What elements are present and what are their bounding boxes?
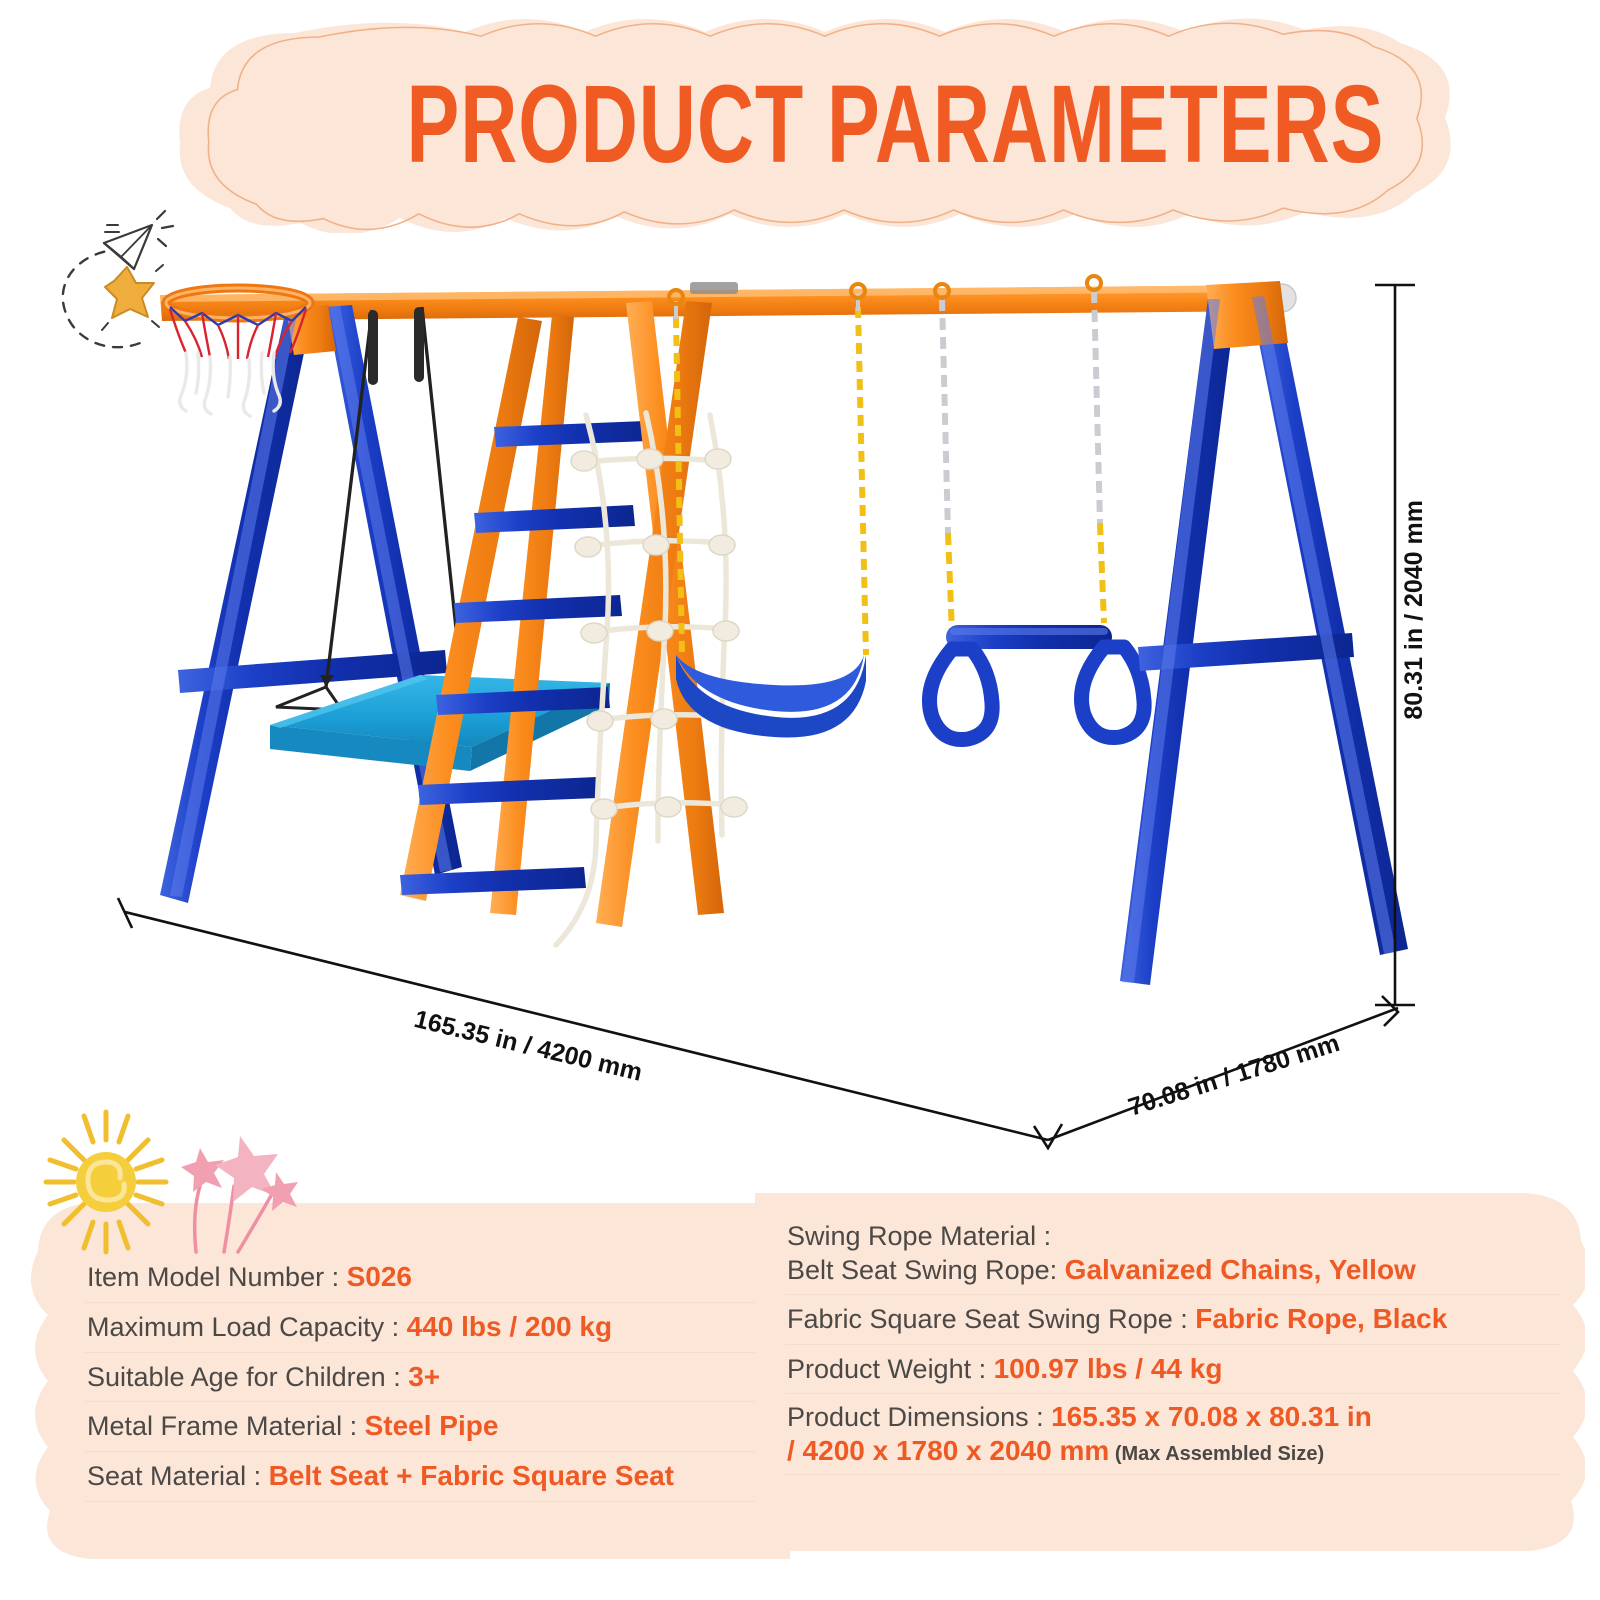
sun-flowers-decoration	[28, 1098, 328, 1268]
spec-value: Steel Pipe	[365, 1410, 499, 1441]
spec-panel-right: Swing Rope Material : Belt Seat Swing Ro…	[755, 1185, 1585, 1575]
spec-label: Product Dimensions :	[787, 1402, 1051, 1432]
spec-row: Seat Material : Belt Seat + Fabric Squar…	[85, 1452, 757, 1502]
spec-label: Suitable Age for Children :	[87, 1362, 408, 1392]
sun-icon	[46, 1112, 166, 1252]
spec-value: Fabric Rope, Black	[1195, 1303, 1447, 1334]
spec-list-right: Swing Rope Material : Belt Seat Swing Ro…	[785, 1215, 1560, 1475]
spec-row: Swing Rope Material : Belt Seat Swing Ro…	[785, 1215, 1560, 1295]
spec-value: Belt Seat + Fabric Square Seat	[269, 1460, 674, 1491]
spec-row: Suitable Age for Children : 3+	[85, 1353, 757, 1403]
product-parameters-page: PRODUCT PARAMETERS	[0, 0, 1600, 1600]
spec-row: Fabric Square Seat Swing Rope : Fabric R…	[785, 1295, 1560, 1345]
right-a-frame	[1120, 281, 1408, 985]
spec-row: Maximum Load Capacity : 440 lbs / 200 kg	[85, 1303, 757, 1353]
flowers-icon	[181, 1136, 298, 1252]
yellow-chain	[676, 307, 866, 655]
spec-label: Belt Seat Swing Rope:	[787, 1255, 1065, 1285]
spec-row-dimensions: Product Dimensions : 165.35 x 70.08 x 80…	[785, 1394, 1560, 1475]
spec-value-line2: / 4200 x 1780 x 2040 mm	[787, 1435, 1109, 1466]
page-title-text: PRODUCT PARAMETERS	[406, 62, 1384, 189]
max-assembled-size-note: (Max Assembled Size)	[1109, 1443, 1324, 1465]
spec-value: S026	[347, 1261, 412, 1292]
spec-value-line1: 165.35 x 70.08 x 80.31 in	[1051, 1401, 1372, 1432]
trapeze-bar-with-rings	[930, 276, 1145, 740]
page-title: PRODUCT PARAMETERS	[175, 18, 1465, 233]
spec-label: Seat Material :	[87, 1461, 269, 1491]
swing-rope-material-heading: Swing Rope Material :	[787, 1221, 1558, 1253]
spec-row: Product Weight : 100.97 lbs / 44 kg	[785, 1345, 1560, 1395]
spec-label: Product Weight :	[787, 1354, 994, 1384]
spec-value: Galvanized Chains, Yellow	[1065, 1254, 1416, 1285]
spec-label: Fabric Square Seat Swing Rope :	[787, 1304, 1195, 1334]
spec-list-left: Item Model Number : S026 Maximum Load Ca…	[85, 1253, 757, 1502]
spec-value: 100.97 lbs / 44 kg	[994, 1353, 1223, 1384]
spec-value: 3+	[408, 1361, 440, 1392]
spec-label: Metal Frame Material :	[87, 1411, 365, 1441]
spec-value: 440 lbs / 200 kg	[407, 1311, 612, 1342]
header-banner: PRODUCT PARAMETERS	[175, 18, 1465, 233]
spec-label: Maximum Load Capacity :	[87, 1312, 407, 1342]
spec-row: Metal Frame Material : Steel Pipe	[85, 1402, 757, 1452]
swing-set-product-image	[90, 255, 1430, 1155]
